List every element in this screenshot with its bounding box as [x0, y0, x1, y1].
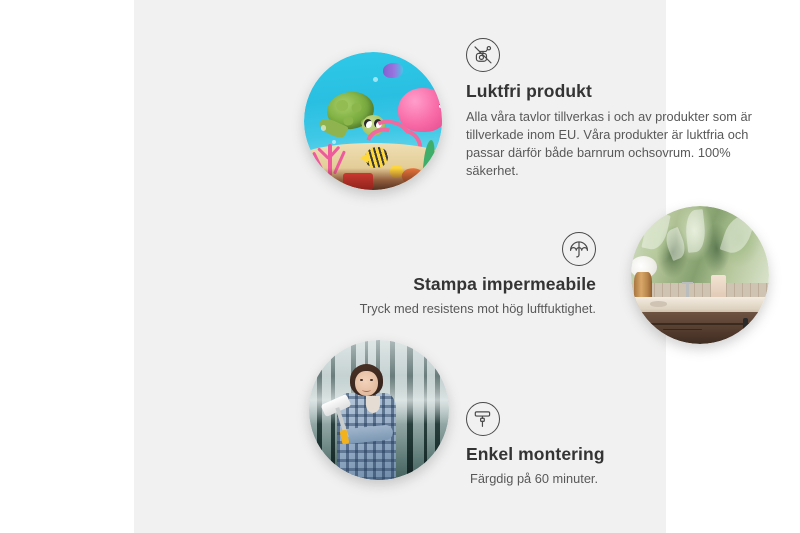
red-foreground-object [343, 173, 373, 190]
feature-heading: Luktfri produkt [466, 81, 756, 103]
leaf-motif [684, 209, 708, 253]
bubble-icon [321, 125, 327, 131]
umbrella-glyph [568, 238, 590, 260]
vanity-drawer-seam [639, 323, 769, 325]
umbrella-icon [562, 232, 596, 266]
paint-roller-icon [466, 402, 500, 436]
feature-block-easy-mounting: Enkel montering Färgdig på 60 minuter. [466, 402, 696, 488]
underwater-cartoon-art [304, 52, 442, 190]
screenshot-canvas: Luktfri produkt Alla våra tavlor tillver… [0, 0, 800, 533]
painter-forest-medallion [309, 340, 449, 480]
bathroom-wallpaper-art [631, 206, 769, 344]
shirt-neckline [366, 396, 380, 413]
feature-block-waterproof: Stampa impermeabile Tryck med resistens … [324, 232, 596, 318]
botanical-wallpaper [631, 206, 769, 294]
soap-dish [650, 301, 667, 307]
leaf-motif [719, 212, 755, 257]
feature-body: Tryck med resistens mot hög luftfuktighe… [324, 300, 596, 318]
no-odour-spray-bottle-glyph [472, 44, 494, 66]
vanity-door-handle [743, 318, 748, 338]
feature-body: Alla våra tavlor tillverkas i och av pro… [466, 108, 756, 181]
bathroom-wallpaper-medallion [631, 206, 769, 344]
person-face [355, 371, 377, 396]
no-odour-spray-bottle-icon [466, 38, 500, 72]
vanity-drawer-handle [663, 329, 702, 331]
paint-roller-glyph [472, 408, 494, 430]
content-panel: Luktfri produkt Alla våra tavlor tillver… [134, 0, 666, 533]
octopus-eye [439, 104, 442, 108]
bubble-icon [373, 77, 378, 82]
underwater-cartoon-medallion [304, 52, 442, 190]
feature-block-odourless: Luktfri produkt Alla våra tavlor tillver… [466, 38, 756, 181]
leaf-motif [641, 211, 670, 252]
painter-forest-art [309, 340, 449, 480]
feature-body: Färgdig på 60 minuter. [466, 470, 696, 488]
feature-heading: Stampa impermeabile [324, 274, 596, 296]
feature-heading: Enkel montering [466, 444, 696, 466]
sea-foreground-shadow [315, 168, 431, 190]
wooden-vanity [639, 312, 769, 344]
